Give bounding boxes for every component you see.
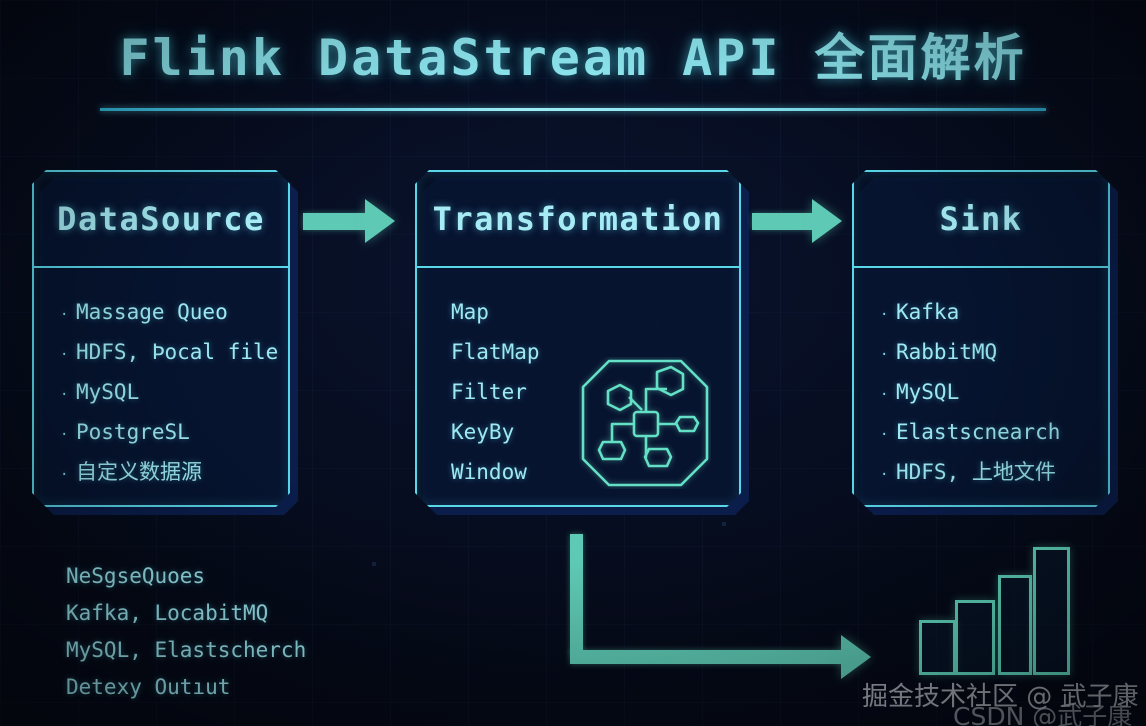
arrow-right-head-icon [365,199,395,243]
list-item-label: HDFS, 上地文件 [896,454,1056,491]
bullet-icon: · [880,457,896,494]
chart-bar [955,600,995,675]
sink-box-header: Sink [854,172,1108,268]
sink-box[interactable]: Sink · Kafka · RabbitMQ · MySQL · Elasts… [852,170,1110,507]
bullet-icon: · [60,377,76,414]
sink-title: Sink [939,200,1022,238]
bullet-icon: · [60,417,76,454]
bullet-icon: · [60,457,76,494]
list-item-label: FlatMap [451,334,540,371]
network-graph-icon [579,357,711,489]
list-item: · RabbitMQ [880,334,1108,374]
footer-note-line: Detexy Outıut [66,669,466,706]
bullet-icon: · [880,417,896,454]
arrow-elbow-right-icon [570,534,583,654]
list-item: · Elastscnearch [880,414,1108,454]
arrow-elbow-right-icon [570,650,845,664]
watermark-secondary: CSDN @武子康 [953,697,1132,726]
list-item-label: MySQL [76,374,139,411]
list-item-label: Kafka [896,294,959,331]
list-item-label: Filter [451,374,527,411]
bullet-icon: · [60,337,76,374]
list-item: · Kafka [880,294,1108,334]
datasource-box[interactable]: DataSource · Massage Queo · HDFS, Þocal … [32,170,290,507]
list-item: · Map [443,294,739,334]
list-item: · HDFS, 上地文件 [880,454,1108,494]
list-item: · MySQL [880,374,1108,414]
title-underline [100,108,1046,111]
datasource-box-header: DataSource [34,172,288,268]
footer-note-line: Kafka, LocabitMQ [66,595,466,632]
background-speck [722,522,726,526]
arrow-right-icon [303,213,365,230]
arrow-right-head-icon [812,199,842,243]
datasource-title: DataSource [57,200,265,238]
list-item: · 自定义数据源 [60,454,288,494]
list-item: · Massage Queo [60,294,288,334]
chart-bar [919,620,956,675]
bullet-icon: · [880,377,896,414]
transformation-box-header: Transformation [417,172,739,268]
list-item-label: MySQL [896,374,959,411]
list-item-label: Map [451,294,489,331]
list-item-label: PostgreSL [76,414,190,451]
page-title-text: Flink DataStream API 全面解析 [119,18,1026,90]
bullet-icon: · [880,337,896,374]
list-item-label: RabbitMQ [896,334,997,371]
bullet-icon: · [60,297,76,334]
transformation-title: Transformation [433,200,724,238]
transformation-box[interactable]: Transformation · Map · FlatMap · Filter … [415,170,741,507]
list-item-label: Elastscnearch [896,414,1060,451]
list-item-label: KeyBy [451,414,514,451]
bar-chart [915,545,1075,675]
footer-note-line: NeSgseQuoes [66,558,466,595]
arrow-elbow-head-icon [841,635,871,679]
footer-note: NeSgseQuoes Kafka, LocabitMQ MySQL, Elas… [66,558,466,706]
footer-note-line: MySQL, Elastscherch [66,632,466,669]
list-item-label: Window [451,454,527,491]
list-item-label: Massage Queo [76,294,228,331]
page-title: Flink DataStream API 全面解析 [0,18,1146,90]
list-item-label: 自定义数据源 [76,454,202,491]
list-item: · HDFS, Þocal file [60,334,288,374]
datasource-box-body: · Massage Queo · HDFS, Þocal file · MySQ… [34,268,288,505]
arrow-right-icon [752,213,812,230]
chart-bar [998,575,1032,675]
list-item: · MySQL [60,374,288,414]
list-item-label: HDFS, Þocal file [76,334,278,371]
sink-box-body: · Kafka · RabbitMQ · MySQL · Elastscnear… [854,268,1108,505]
bullet-icon: · [880,297,896,334]
diagram-canvas: Flink DataStream API 全面解析 DataSource · M… [0,0,1146,726]
chart-bar [1033,547,1070,675]
list-item: · PostgreSL [60,414,288,454]
